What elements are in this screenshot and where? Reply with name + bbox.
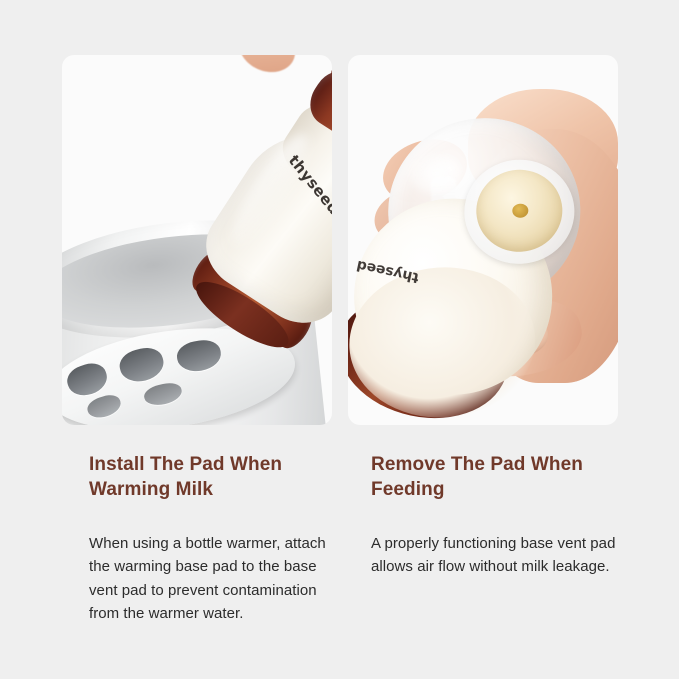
baby-bottle-right: thyseed	[348, 107, 610, 424]
product-photo-install-pad-warming[interactable]: thyseed	[62, 55, 332, 425]
feature-body: A properly functioning base vent pad all…	[371, 502, 621, 579]
product-photo-remove-pad-feeding[interactable]: thyseed	[348, 55, 618, 425]
feature-block-install-pad-warming: Install The Pad When Warming Milk When u…	[89, 452, 339, 625]
finger	[231, 55, 303, 81]
feature-heading: Remove The Pad When Feeding	[371, 452, 621, 502]
scene-bottle-in-warmer: thyseed	[62, 55, 332, 425]
feature-heading: Install The Pad When Warming Milk	[89, 452, 339, 502]
feature-block-remove-pad-feeding: Remove The Pad When Feeding A properly f…	[371, 452, 621, 579]
scene-hand-holding-bottle: thyseed	[348, 55, 618, 425]
text-row: Install The Pad When Warming Milk When u…	[0, 452, 679, 679]
photo-row: thyseed	[0, 0, 679, 440]
feature-body: When using a bottle warmer, attach the w…	[89, 502, 339, 625]
product-feature-page: thyseed	[0, 0, 679, 679]
